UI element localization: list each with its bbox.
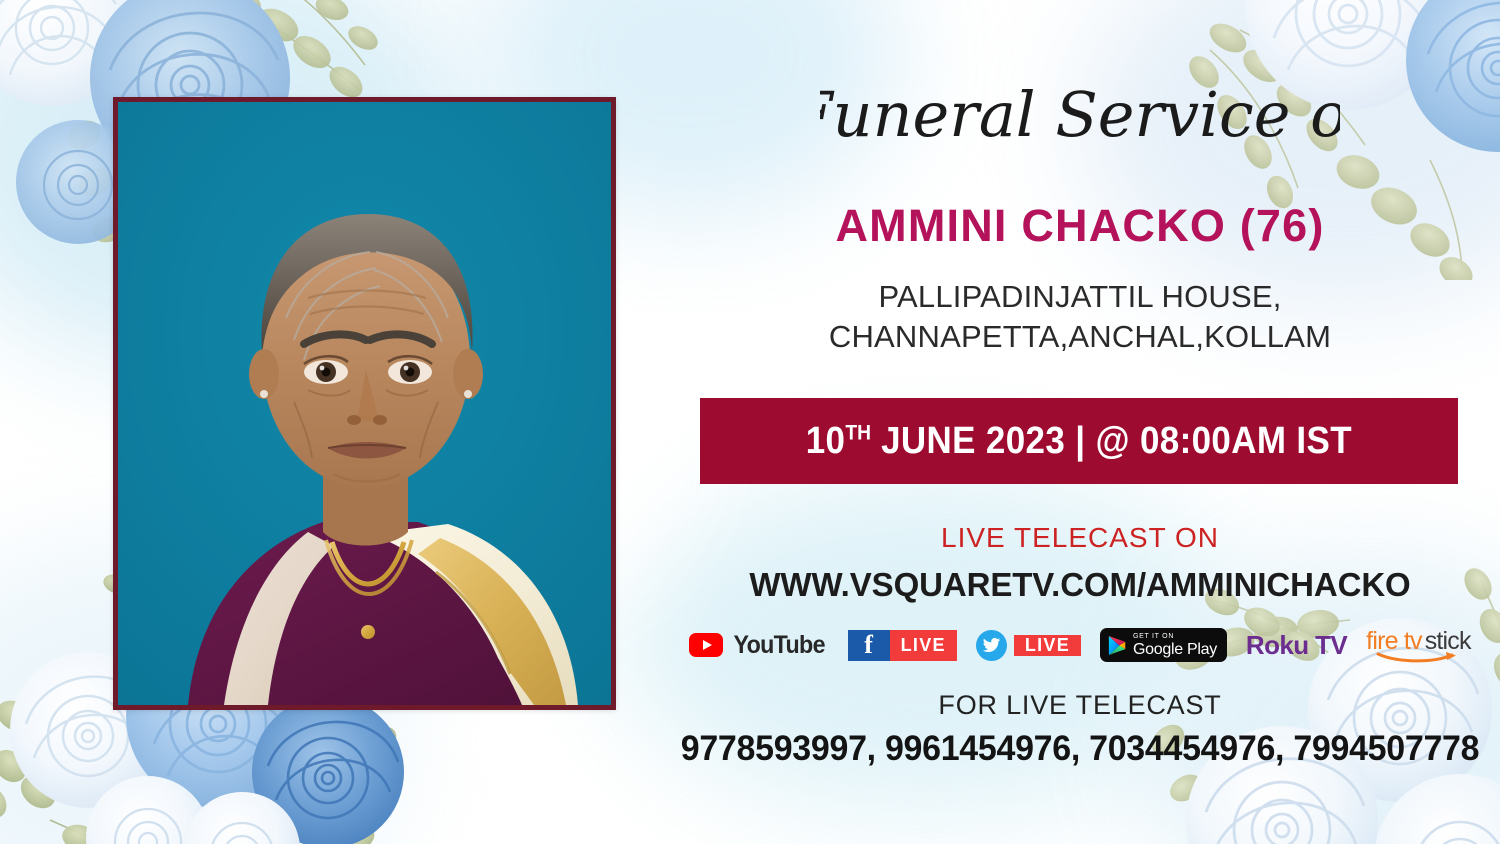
platform-twitter-live[interactable]: LIVE <box>976 628 1081 662</box>
youtube-play-icon <box>689 633 723 657</box>
address-block: PALLIPADINJATTIL HOUSE, CHANNAPETTA,ANCH… <box>660 277 1500 356</box>
for-live-telecast-label: FOR LIVE TELECAST <box>660 690 1500 721</box>
twitter-live-badge: LIVE <box>1014 635 1081 656</box>
script-heading-text: Funeral Service of <box>820 78 1340 151</box>
platform-youtube[interactable]: YouTube <box>689 628 828 662</box>
service-date-banner: 10TH JUNE 2023 | @ 08:00AM IST <box>700 398 1458 484</box>
google-play-eyebrow: GET IT ON <box>1133 633 1217 640</box>
date-remainder: JUNE 2023 | @ 08:00AM IST <box>871 420 1352 462</box>
roku-label: Roku TV <box>1246 630 1347 661</box>
address-line-1: PALLIPADINJATTIL HOUSE, <box>660 277 1500 317</box>
platform-fire-tv-stick[interactable]: fire tv stick <box>1366 628 1471 662</box>
twitter-bird-icon <box>976 630 1007 661</box>
funeral-service-poster: Funeral Service of AMMINI CHACKO (76) PA… <box>0 0 1500 844</box>
google-play-label: Google Play <box>1133 642 1217 658</box>
contact-phone-numbers[interactable]: 9778593997, 9961454976, 7034454976, 7994… <box>673 729 1488 769</box>
announcement-content: Funeral Service of AMMINI CHACKO (76) PA… <box>660 0 1500 844</box>
date-ordinal-suffix: TH <box>846 421 872 444</box>
streaming-platforms: YouTube f LIVE LIVE <box>660 624 1500 666</box>
script-heading-artwork: Funeral Service of <box>820 58 1340 168</box>
youtube-label: YouTube <box>734 631 825 660</box>
platform-google-play[interactable]: GET IT ON Google Play <box>1100 628 1227 662</box>
google-play-triangle-icon <box>1108 635 1127 656</box>
platform-facebook-live[interactable]: f LIVE <box>848 628 957 662</box>
service-date-text: 10TH JUNE 2023 | @ 08:00AM IST <box>806 420 1352 463</box>
deceased-portrait-frame <box>113 97 616 710</box>
roku-tv-suffix: TV <box>1315 630 1347 660</box>
address-line-2: CHANNAPETTA,ANCHAL,KOLLAM <box>660 317 1500 357</box>
deceased-name: AMMINI CHACKO (76) <box>660 200 1500 252</box>
deceased-portrait <box>118 102 611 705</box>
amazon-smile-arrow-icon <box>1376 652 1460 664</box>
script-heading: Funeral Service of <box>660 58 1500 168</box>
facebook-live-badge: LIVE <box>890 630 957 661</box>
facebook-f-icon: f <box>848 630 890 661</box>
stream-url[interactable]: WWW.VSQUARETV.COM/AMMINICHACKO <box>660 566 1500 604</box>
platform-roku-tv[interactable]: Roku TV <box>1246 628 1347 662</box>
date-day: 10 <box>806 420 846 462</box>
roku-name: Roku <box>1246 630 1309 660</box>
live-telecast-label: LIVE TELECAST ON <box>660 522 1500 554</box>
